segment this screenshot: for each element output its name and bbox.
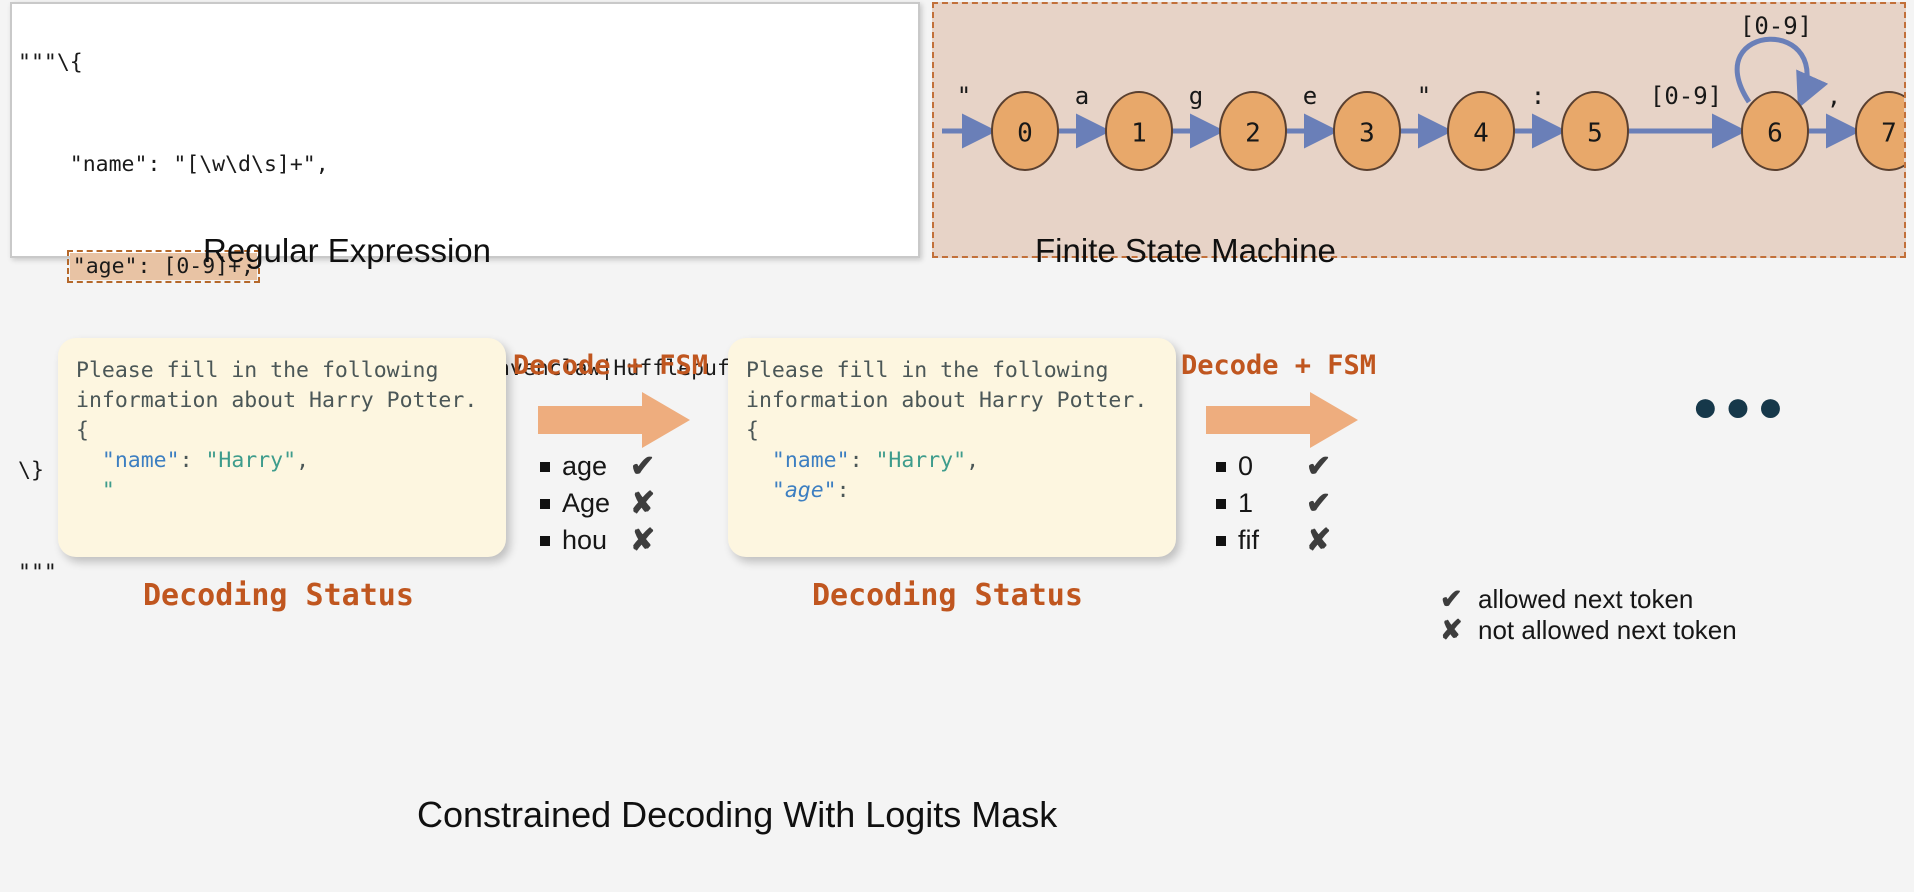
fsm-label-4-5: :	[1531, 82, 1545, 110]
fsm-state-4: 4	[1473, 119, 1489, 149]
cross-icon: ✘	[630, 486, 655, 521]
bullet-icon	[540, 536, 550, 546]
check-icon: ✔	[1306, 486, 1331, 521]
legend-label: not allowed next token	[1478, 615, 1737, 646]
check-icon: ✔	[630, 449, 655, 484]
fsm-label-0-1: a	[1075, 82, 1089, 110]
prompt2-line-2: {	[746, 418, 759, 443]
fsm-label-6-6: [0-9]	[1740, 12, 1812, 40]
prompt2-line-0: Please fill in the following	[746, 358, 1108, 383]
fsm-state-3: 3	[1359, 119, 1375, 149]
prompt2-line-3: "name": "Harry",	[746, 448, 979, 473]
regex-line-5: """	[18, 560, 57, 585]
prompt1-line-2: {	[76, 418, 89, 443]
fsm-diagram: 0 1 2 3 4 5 6 7 " a g e " : [0-9] [0-9] …	[934, 4, 1904, 256]
prompt2-line-4: "age":	[746, 478, 850, 503]
json-key-name-2: "name"	[772, 448, 850, 473]
fsm-state-2: 2	[1245, 119, 1261, 149]
prompt-box-step-1: Please fill in the following information…	[58, 338, 506, 557]
token-row[interactable]: hou ✘	[540, 522, 655, 559]
prompt1-line-3: "name": "Harry",	[76, 448, 309, 473]
fsm-label-6-7: ,	[1827, 82, 1841, 110]
decode-fsm-title-2: Decode + FSM	[1181, 350, 1376, 381]
json-value-harry-1: "Harry"	[205, 448, 296, 473]
fsm-state-6: 6	[1767, 119, 1783, 149]
token-row[interactable]: fif ✘	[1216, 522, 1331, 559]
legend-label: allowed next token	[1478, 584, 1693, 615]
legend-row-not-allowed: ✘ not allowed next token	[1440, 615, 1737, 646]
token-row[interactable]: age ✔	[540, 448, 655, 485]
ellipsis-icon: ●●●	[1692, 392, 1790, 422]
decode-arrow-2	[1206, 390, 1358, 450]
token-label: 1	[1238, 488, 1300, 519]
fsm-label-3-4: "	[1417, 82, 1431, 110]
fsm-state-1: 1	[1131, 119, 1147, 149]
token-label: Age	[562, 488, 624, 519]
regex-line-4: \}	[18, 458, 44, 483]
legend: ✔ allowed next token ✘ not allowed next …	[1440, 584, 1737, 646]
prompt1-line-4: "	[76, 478, 115, 503]
prompt-text-step-2: Please fill in the following information…	[746, 356, 1158, 506]
fsm-state-5: 5	[1587, 119, 1603, 149]
regex-line-0: """\{	[18, 50, 83, 75]
slide-canvas: """\{ "name": "[\w\d\s]+", "age": [0-9]+…	[0, 0, 1914, 892]
prompt-box-step-2: Please fill in the following information…	[728, 338, 1176, 557]
bullet-icon	[1216, 499, 1226, 509]
json-partial-quote-1: "	[102, 478, 115, 503]
prompt2-line-1: information about Harry Potter.	[746, 388, 1147, 413]
decode-arrow-1	[538, 390, 690, 450]
token-row[interactable]: Age ✘	[540, 485, 655, 522]
bullet-icon	[1216, 462, 1226, 472]
json-key-age-2: "age"	[772, 478, 837, 503]
check-icon: ✔	[1306, 449, 1331, 484]
token-label: age	[562, 451, 624, 482]
token-label: 0	[1238, 451, 1300, 482]
cross-icon: ✘	[630, 523, 655, 558]
fsm-state-0: 0	[1017, 119, 1033, 149]
token-label: fif	[1238, 525, 1300, 556]
bullet-icon	[540, 462, 550, 472]
legend-row-allowed: ✔ allowed next token	[1440, 584, 1737, 615]
decode-fsm-title-1: Decode + FSM	[513, 350, 708, 381]
bullet-icon	[540, 499, 550, 509]
cross-icon: ✘	[1440, 615, 1470, 646]
decoding-status-caption-1: Decoding Status	[143, 578, 414, 613]
token-row[interactable]: 1 ✔	[1216, 485, 1331, 522]
token-label: hou	[562, 525, 624, 556]
check-icon: ✔	[1440, 584, 1470, 615]
fsm-label-start: "	[957, 82, 971, 110]
prompt1-line-0: Please fill in the following	[76, 358, 438, 383]
bullet-icon	[1216, 536, 1226, 546]
fsm-label-2-3: e	[1303, 82, 1317, 110]
json-value-harry-2: "Harry"	[875, 448, 966, 473]
regex-line-1: "name": "[\w\d\s]+",	[18, 152, 329, 177]
fsm-label-1-2: g	[1189, 82, 1203, 110]
fsm-caption: Finite State Machine	[1035, 232, 1336, 270]
figure-title: Constrained Decoding With Logits Mask	[417, 794, 1057, 836]
prompt1-line-1: information about Harry Potter.	[76, 388, 477, 413]
fsm-state-7: 7	[1881, 119, 1897, 149]
decoding-status-caption-2: Decoding Status	[812, 578, 1083, 613]
regex-panel: """\{ "name": "[\w\d\s]+", "age": [0-9]+…	[10, 2, 920, 258]
fsm-label-5-6: [0-9]	[1650, 82, 1722, 110]
json-key-name-1: "name"	[102, 448, 180, 473]
cross-icon: ✘	[1306, 523, 1331, 558]
prompt-text-step-1: Please fill in the following information…	[76, 356, 488, 506]
token-candidate-list-2: 0 ✔ 1 ✔ fif ✘	[1216, 448, 1331, 559]
token-candidate-list-1: age ✔ Age ✘ hou ✘	[540, 448, 655, 559]
regex-caption: Regular Expression	[203, 232, 491, 270]
fsm-panel: 0 1 2 3 4 5 6 7 " a g e " : [0-9] [0-9] …	[932, 2, 1906, 258]
token-row[interactable]: 0 ✔	[1216, 448, 1331, 485]
